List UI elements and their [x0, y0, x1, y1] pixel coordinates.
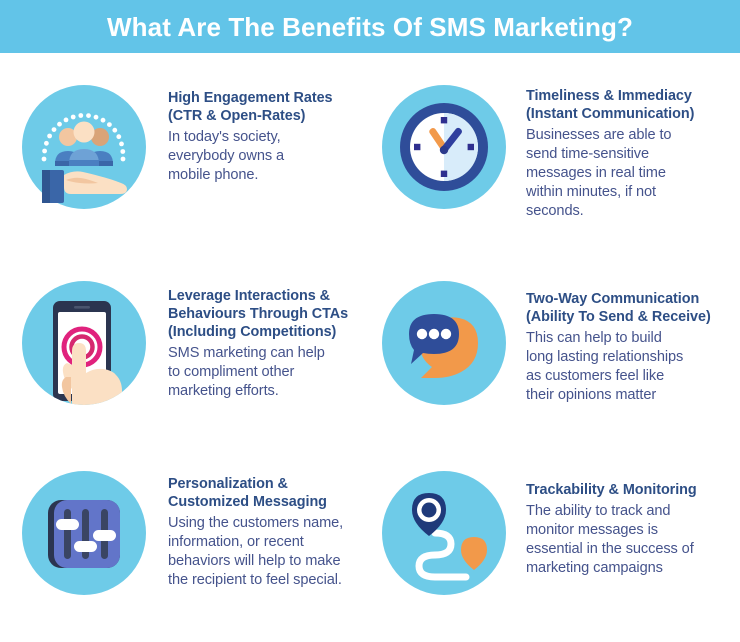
- icon-container: [382, 471, 506, 595]
- icon-container: [22, 281, 146, 405]
- phone-tap-icon: [22, 281, 146, 405]
- card-text: Trackability & Monitoring The ability to…: [506, 471, 740, 578]
- card-title: Leverage Interactions & Behaviours Throu…: [168, 287, 382, 341]
- card-text: High Engagement Rates (CTR & Open-Rates)…: [146, 85, 382, 185]
- icon-container: [382, 281, 506, 405]
- clock-icon: [382, 85, 506, 209]
- card-body: Using the customers name, information, o…: [168, 514, 382, 590]
- card-text: Leverage Interactions & Behaviours Throu…: [146, 281, 382, 401]
- benefit-card-trackability-monitoring: Trackability & Monitoring The ability to…: [382, 471, 740, 642]
- icon-container: [22, 85, 146, 209]
- infographic-root: What Are The Benefits Of SMS Marketing?: [0, 0, 740, 642]
- card-text: Two-Way Communication (Ability To Send &…: [506, 281, 740, 405]
- header-band: What Are The Benefits Of SMS Marketing?: [0, 0, 740, 53]
- card-title: Trackability & Monitoring: [526, 481, 740, 499]
- benefit-card-two-way-communication: Two-Way Communication (Ability To Send &…: [382, 281, 740, 471]
- icon-container: [382, 85, 506, 209]
- card-text: Timeliness & Immediacy (Instant Communic…: [506, 85, 740, 221]
- speech-bubbles-icon: [382, 281, 506, 405]
- benefit-card-high-engagement-rates: High Engagement Rates (CTR & Open-Rates)…: [22, 85, 382, 281]
- card-title: Two-Way Communication (Ability To Send &…: [526, 290, 740, 326]
- card-title: High Engagement Rates (CTR & Open-Rates): [168, 89, 382, 125]
- card-body: In today's society, everybody owns a mob…: [168, 128, 382, 185]
- card-title: Personalization & Customized Messaging: [168, 475, 382, 511]
- benefit-card-timeliness-immediacy: Timeliness & Immediacy (Instant Communic…: [382, 85, 740, 281]
- map-pin-route-icon: [382, 471, 506, 595]
- card-title: Timeliness & Immediacy (Instant Communic…: [526, 87, 740, 123]
- card-body: This can help to build long lasting rela…: [526, 329, 740, 405]
- benefits-grid: High Engagement Rates (CTR & Open-Rates)…: [0, 53, 740, 642]
- card-text: Personalization & Customized Messaging U…: [146, 471, 382, 590]
- card-body: SMS marketing can help to compliment oth…: [168, 344, 382, 401]
- page-title: What Are The Benefits Of SMS Marketing?: [107, 14, 633, 40]
- sliders-icon: [22, 471, 146, 595]
- icon-container: [22, 471, 146, 595]
- benefit-card-personalization-messaging: Personalization & Customized Messaging U…: [22, 471, 382, 642]
- hand-holding-people-icon: [22, 85, 146, 209]
- card-body: The ability to track and monitor message…: [526, 502, 740, 578]
- card-body: Businesses are able to send time-sensiti…: [526, 126, 740, 221]
- benefit-card-leverage-interactions: Leverage Interactions & Behaviours Throu…: [22, 281, 382, 471]
